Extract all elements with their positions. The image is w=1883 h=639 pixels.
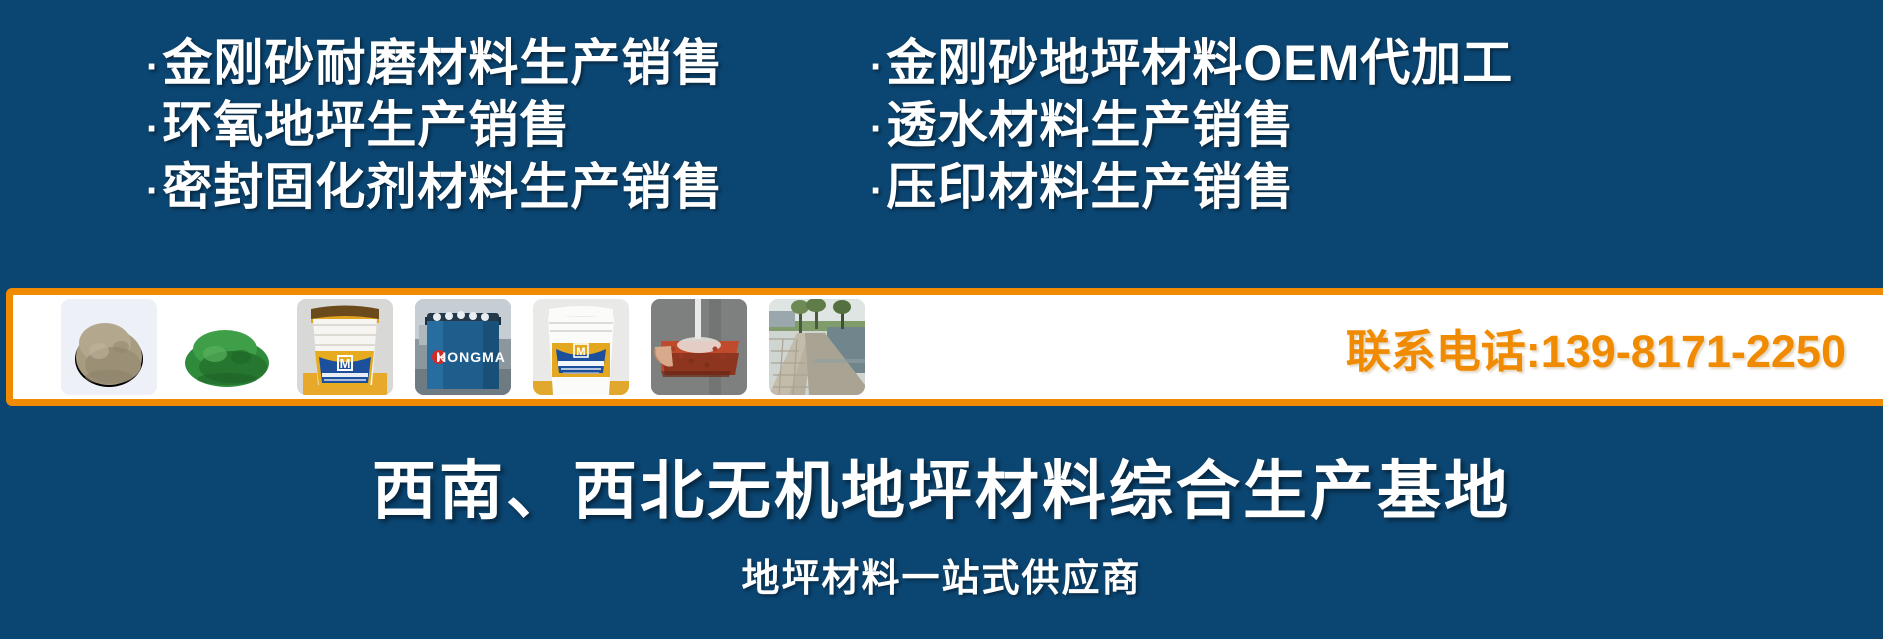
service-label: 密封固化剂材料生产销售 [162,158,723,216]
services-bullet-lists: · 金刚砂耐磨材料生产销售 · 环氧地坪生产销售 · 密封固化剂材料生产销售 ·… [0,34,1883,234]
svg-text:M: M [340,356,351,371]
service-item: · 金刚砂耐磨材料生产销售 [146,34,870,96]
green-powder-icon [179,299,275,395]
page-title: 西南、西北无机地坪材料综合生产基地 [0,452,1883,530]
service-item: · 密封固化剂材料生产销售 [146,158,870,220]
product-thumb-stamped-concrete-path [769,299,865,395]
permeable-concrete-icon [651,299,747,395]
bullet-dot-icon: · [146,162,160,220]
product-thumb-grey-abrasive-powder [61,299,157,395]
service-item: · 金刚砂地坪材料OEM代加工 [870,34,1883,96]
service-item: · 环氧地坪生产销售 [146,96,870,158]
service-label: 金刚砂地坪材料OEM代加工 [886,34,1513,92]
sealer-pail-icon: M [297,299,393,395]
page-subtitle: 地坪材料一站式供应商 [0,556,1883,602]
service-item: · 透水材料生产销售 [870,96,1883,158]
bullet-dot-icon: · [870,162,884,220]
bullet-dot-icon: · [146,100,160,158]
grey-powder-icon [61,299,157,395]
service-item: · 压印材料生产销售 [870,158,1883,220]
service-label: 金刚砂耐磨材料生产销售 [162,34,723,92]
contact-phone[interactable]: 联系电话:139-8171-2250 [1346,315,1883,380]
service-label: 透水材料生产销售 [886,96,1294,154]
stamped-path-icon [769,299,865,395]
bullet-dot-icon: · [146,38,160,96]
product-strip: M [6,288,1883,406]
svg-text:M: M [576,346,585,358]
epoxy-pail-icon: M [533,299,629,395]
service-label: 压印材料生产销售 [886,158,1294,216]
product-thumb-green-abrasive-powder [179,299,275,395]
hongma-drum-icon: K HONGMA [415,299,511,395]
service-label: 环氧地坪生产销售 [162,96,570,154]
services-column-right: · 金刚砂地坪材料OEM代加工 · 透水材料生产销售 · 压印材料生产销售 [870,34,1883,234]
product-thumbnail-list: M [13,295,865,399]
promotional-banner: · 金刚砂耐磨材料生产销售 · 环氧地坪生产销售 · 密封固化剂材料生产销售 ·… [0,0,1883,639]
product-thumb-hongma-blue-drum: K HONGMA [415,299,511,395]
bullet-dot-icon: · [870,38,884,96]
svg-text:HONGMA: HONGMA [436,349,506,365]
product-thumb-sealer-pail-yellow: M [297,299,393,395]
services-column-left: · 金刚砂耐磨材料生产销售 · 环氧地坪生产销售 · 密封固化剂材料生产销售 [0,34,870,234]
product-thumb-permeable-concrete-sample [651,299,747,395]
product-thumb-epoxy-pail-white: M [533,299,629,395]
bullet-dot-icon: · [870,100,884,158]
